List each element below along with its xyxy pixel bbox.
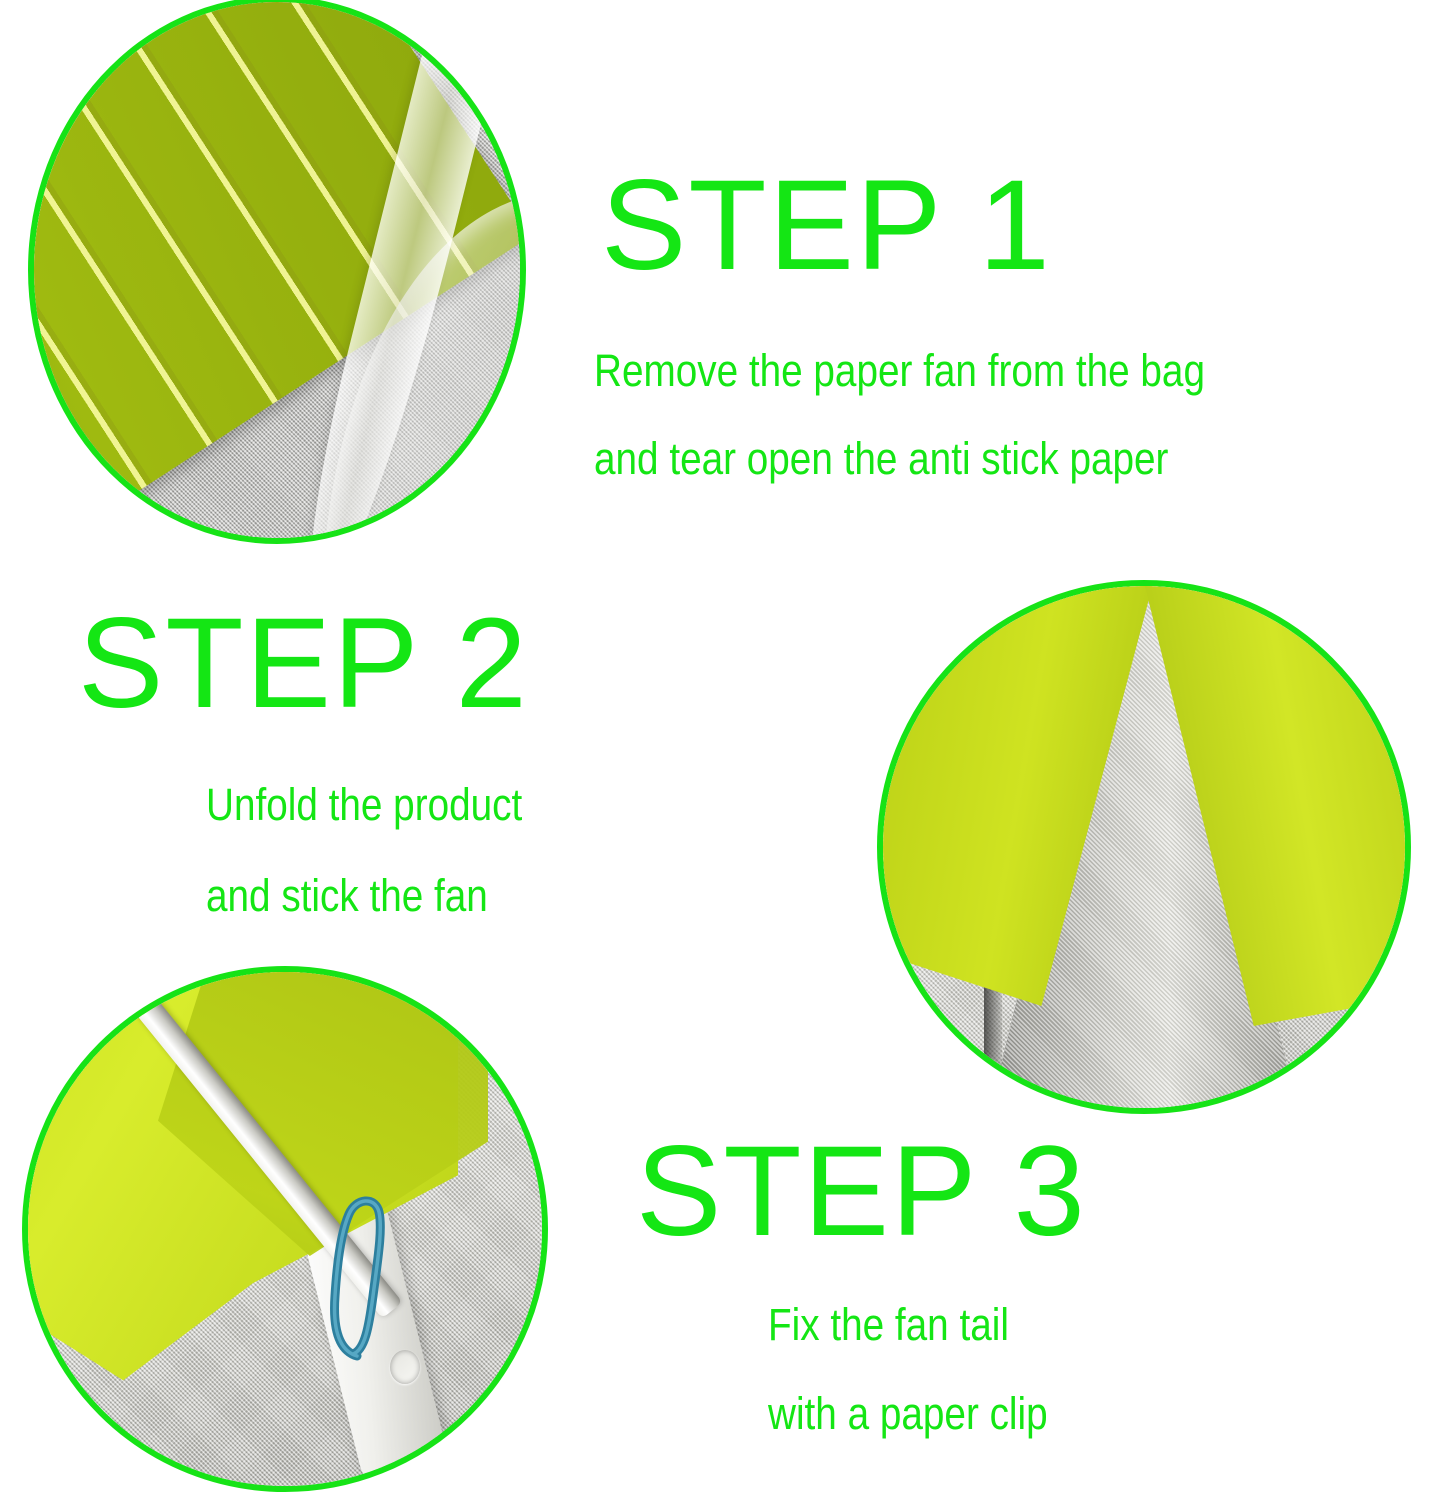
step-1-heading: STEP 1 — [601, 162, 1304, 290]
step-2-text-block: STEP 2 Unfold the product and stick the … — [78, 600, 574, 918]
step-2-line-1: Unfold the product — [206, 782, 522, 827]
step-2-heading: STEP 2 — [78, 600, 574, 728]
step-1-photo-content — [34, 2, 520, 538]
step-2-photo-content — [883, 586, 1405, 1108]
step-3-line-1: Fix the fan tail — [768, 1302, 1048, 1347]
step-1-line-1: Remove the paper fan from the bag — [594, 348, 1205, 393]
instruction-sheet: STEP 1 Remove the paper fan from the bag… — [0, 0, 1437, 1500]
step-1-text-block: STEP 1 Remove the paper fan from the bag… — [601, 162, 1304, 481]
step-2-line-2: and stick the fan — [206, 873, 522, 918]
step-1-line-2: and tear open the anti stick paper — [594, 436, 1205, 481]
step-3-photo-content — [28, 972, 542, 1486]
step-3-line-2: with a paper clip — [768, 1391, 1048, 1436]
step-3-text-block: STEP 3 Fix the fan tail with a paper cli… — [636, 1128, 1093, 1436]
paper-clip-icon — [323, 1184, 385, 1364]
step-2-photo — [877, 580, 1411, 1114]
step-1-photo — [28, 0, 526, 544]
fan-tail-hole — [390, 1350, 420, 1384]
step-3-heading: STEP 3 — [636, 1128, 1093, 1256]
step-3-photo — [22, 966, 548, 1492]
